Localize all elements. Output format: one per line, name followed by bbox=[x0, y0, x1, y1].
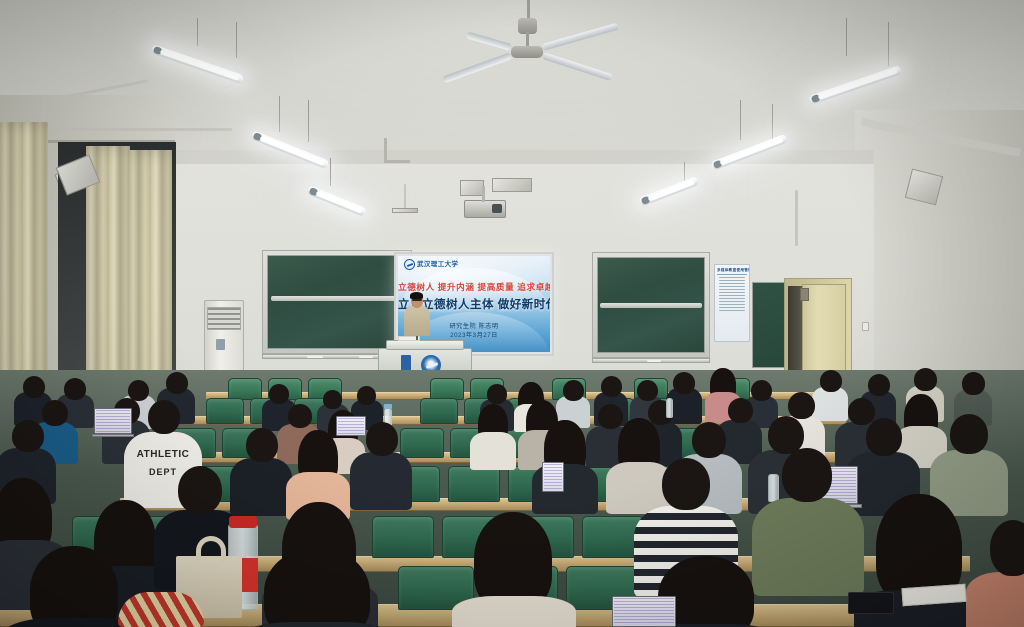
presenter-torso bbox=[404, 306, 430, 336]
blackboard-divider bbox=[271, 296, 404, 301]
person-torso bbox=[452, 596, 576, 627]
person-head bbox=[848, 398, 875, 425]
person-head bbox=[673, 372, 695, 394]
person-head bbox=[788, 392, 815, 419]
person-head bbox=[990, 520, 1024, 576]
person-hair bbox=[30, 546, 118, 627]
person-head bbox=[246, 428, 278, 462]
university-logo: 武汉理工大学 bbox=[404, 259, 458, 270]
seat[interactable] bbox=[372, 516, 434, 558]
projector-mount-arm bbox=[384, 160, 410, 163]
person-head bbox=[962, 372, 985, 395]
side-blackboard bbox=[752, 282, 788, 368]
light-rod bbox=[330, 158, 331, 186]
light-rod bbox=[888, 22, 889, 66]
light-switch-icon[interactable] bbox=[862, 322, 869, 331]
person-head bbox=[728, 398, 753, 423]
person-head bbox=[868, 374, 890, 396]
blackboard-surface bbox=[267, 255, 407, 349]
blackboard-divider bbox=[600, 303, 702, 308]
notice-text-line bbox=[719, 292, 745, 293]
university-logo-mark-icon bbox=[404, 259, 415, 270]
notice-text-line bbox=[719, 301, 745, 302]
person-torso bbox=[350, 452, 412, 510]
lecture-hall-photo: 武汉理工大学 立德树人 提升内涵 提高质量 追求卓越 立足立德树人主体 做好新时… bbox=[0, 0, 1024, 627]
person-head bbox=[178, 466, 222, 514]
person-head bbox=[601, 376, 622, 397]
person-head bbox=[12, 420, 44, 452]
chalk bbox=[307, 356, 323, 358]
bottle-cap bbox=[384, 404, 392, 409]
notice-board-title: 多媒体教室使用管理规定 bbox=[717, 268, 747, 275]
seat[interactable] bbox=[448, 466, 500, 502]
person-head bbox=[288, 404, 312, 428]
blackboard-right bbox=[592, 252, 710, 358]
laptop-screen-content bbox=[338, 418, 364, 434]
person-torso bbox=[470, 432, 516, 470]
bottle-cap bbox=[229, 516, 257, 528]
chalk bbox=[647, 360, 661, 362]
person-head bbox=[751, 380, 772, 401]
person-head bbox=[357, 386, 376, 405]
phone-icon[interactable] bbox=[848, 592, 894, 614]
blackboard-left bbox=[262, 250, 412, 354]
laptop-icon[interactable] bbox=[542, 462, 564, 492]
tote-bag-handle bbox=[196, 536, 226, 562]
light-rod bbox=[740, 100, 741, 140]
laptop-screen-content bbox=[96, 410, 130, 432]
person-head bbox=[662, 458, 710, 510]
laptop-icon[interactable] bbox=[612, 596, 676, 627]
seat[interactable] bbox=[430, 378, 464, 400]
presenter-glasses-icon bbox=[412, 299, 422, 301]
person-hair bbox=[264, 548, 370, 627]
notice-text-line bbox=[719, 286, 745, 287]
laptop-screen-content bbox=[614, 598, 674, 625]
presenter-hair bbox=[410, 292, 423, 299]
person-head bbox=[950, 414, 988, 454]
seat[interactable] bbox=[420, 398, 458, 424]
person-torso bbox=[752, 498, 864, 596]
ac-control-panel bbox=[216, 339, 224, 350]
seat[interactable] bbox=[206, 398, 244, 424]
person-head bbox=[166, 372, 188, 394]
notice-text-line bbox=[719, 295, 745, 296]
laptop-icon[interactable] bbox=[94, 408, 132, 434]
blackboard-surface bbox=[597, 257, 705, 353]
person-head bbox=[866, 418, 902, 456]
notice-text-line bbox=[719, 307, 745, 308]
notice-text-line bbox=[719, 277, 745, 278]
notice-text-line bbox=[719, 304, 745, 305]
person-head bbox=[269, 384, 289, 404]
curtain-left-a bbox=[0, 122, 48, 404]
projector-mount bbox=[384, 138, 387, 162]
chalk bbox=[359, 356, 373, 358]
tshirt-text-line-1: ATHLETIC bbox=[124, 450, 202, 461]
person-head bbox=[323, 390, 342, 409]
notice-text-line bbox=[719, 310, 745, 311]
projector-ceiling-arm bbox=[482, 186, 485, 202]
person-head bbox=[637, 380, 658, 401]
light-rod bbox=[197, 18, 198, 46]
light-rod bbox=[236, 22, 237, 58]
seat[interactable] bbox=[228, 378, 262, 400]
person-head bbox=[820, 370, 842, 392]
person-head bbox=[487, 384, 507, 404]
person-head bbox=[42, 400, 68, 426]
notice-board: 多媒体教室使用管理规定 bbox=[714, 264, 750, 342]
person-head bbox=[598, 404, 623, 429]
person-torso bbox=[812, 387, 848, 421]
seat[interactable] bbox=[400, 428, 444, 458]
conduit-pipe-right bbox=[795, 190, 798, 246]
ceiling-control-box bbox=[492, 178, 532, 192]
ac-grill bbox=[207, 307, 240, 330]
water-bottle-icon[interactable] bbox=[768, 474, 779, 502]
university-logo-text: 武汉理工大学 bbox=[417, 259, 458, 270]
light-rod bbox=[279, 96, 280, 132]
fan-rod bbox=[527, 0, 530, 20]
ceiling-device-box bbox=[460, 180, 484, 196]
projector-bracket bbox=[392, 208, 418, 213]
wall-soffit-left bbox=[150, 150, 874, 164]
projector-cable bbox=[404, 184, 406, 210]
person-head bbox=[23, 376, 45, 398]
lectern-desktop bbox=[386, 340, 464, 350]
laptop-base bbox=[92, 434, 134, 437]
air-conditioner-icon bbox=[204, 300, 244, 378]
notice-text-line bbox=[719, 280, 745, 281]
person-head bbox=[366, 422, 398, 456]
fan-hub bbox=[511, 46, 543, 58]
person-head bbox=[148, 400, 180, 434]
person-head bbox=[563, 380, 584, 401]
door-closer-icon bbox=[800, 288, 809, 301]
conduit-pipe-horizontal bbox=[42, 128, 232, 131]
notice-text-line bbox=[719, 283, 745, 284]
chalk-tray-right bbox=[592, 358, 710, 363]
water-bottle-icon[interactable] bbox=[666, 398, 673, 418]
person-head bbox=[914, 368, 937, 391]
laptop-screen-content bbox=[544, 464, 562, 490]
projector-lens-icon bbox=[492, 204, 502, 213]
notice-text-line bbox=[719, 289, 745, 290]
person-head bbox=[782, 448, 832, 502]
projector-icon bbox=[464, 200, 506, 218]
person-torso bbox=[230, 458, 292, 516]
person-head bbox=[692, 422, 726, 458]
knit-bag-icon[interactable] bbox=[118, 592, 204, 627]
light-rod bbox=[308, 100, 309, 142]
slide-headline: 立德树人 提升内涵 提高质量 追求卓越 bbox=[398, 281, 550, 293]
laptop-icon[interactable] bbox=[336, 416, 366, 436]
curtain-left-c bbox=[128, 150, 172, 396]
person-head bbox=[64, 378, 86, 400]
light-rod bbox=[846, 18, 847, 56]
notice-text-line bbox=[719, 298, 745, 299]
person-torso bbox=[966, 572, 1024, 627]
